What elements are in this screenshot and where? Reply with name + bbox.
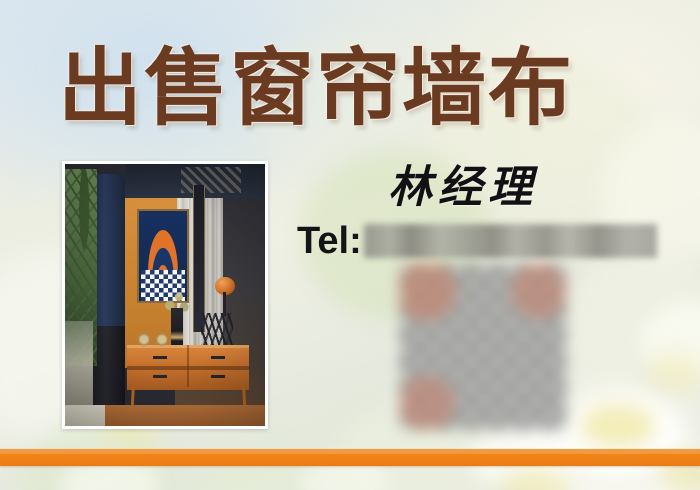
qr-code-redacted	[400, 264, 566, 430]
telephone-number-redacted	[364, 224, 657, 258]
poster-title: 出售窗帘墙布	[58, 46, 574, 130]
photo-vignette	[65, 164, 265, 426]
poster-canvas: 出售窗帘墙布	[0, 0, 700, 490]
accent-bar	[0, 449, 700, 466]
telephone-label: Tel:	[297, 222, 362, 260]
product-photo	[65, 164, 265, 426]
accent-bar-highlight	[0, 449, 700, 454]
manager-name: 林经理	[388, 166, 538, 210]
telephone-row: Tel:	[297, 222, 657, 260]
product-photo-frame	[62, 161, 268, 429]
